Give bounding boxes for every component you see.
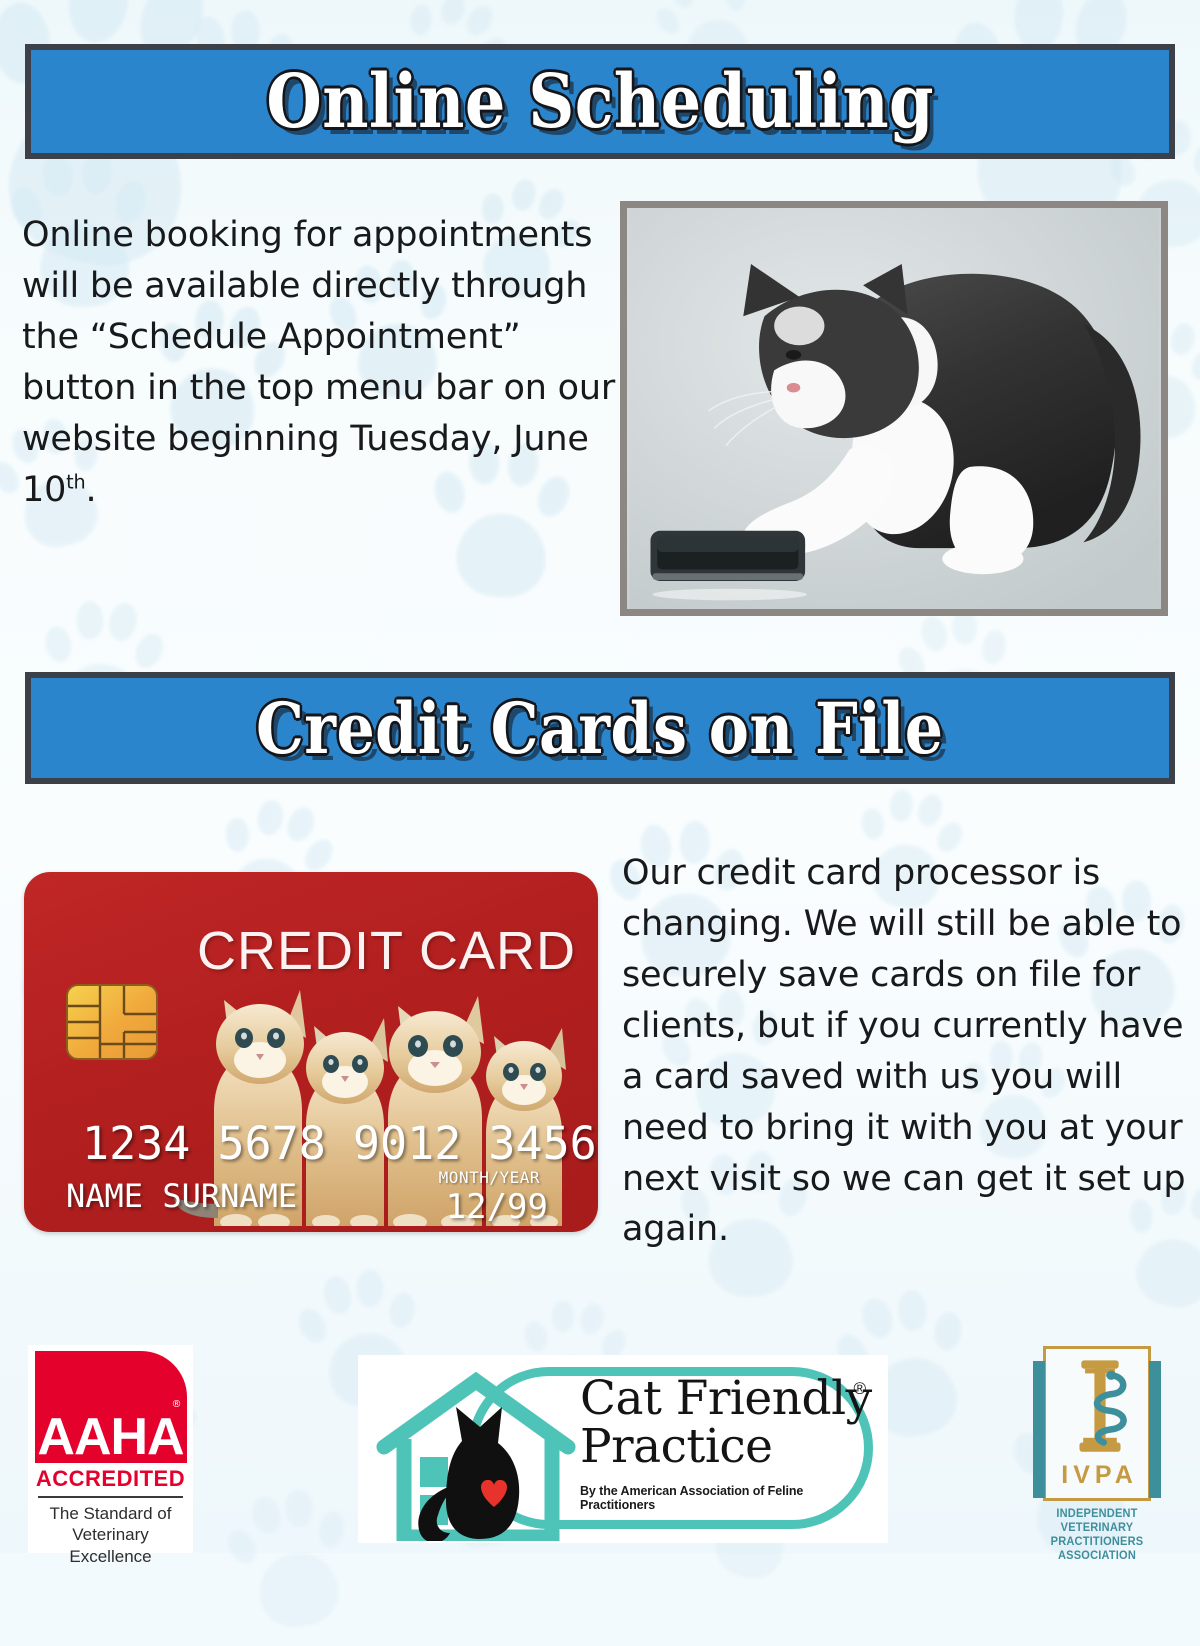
accreditation-logos-footer: AAHA ® ACCREDITED The Standard of Veteri… <box>0 1340 1200 1553</box>
ivpa-acronym: IVPA <box>1046 1461 1148 1490</box>
online-scheduling-text-main: Online booking for appointments will be … <box>22 215 615 510</box>
aaha-accredited-logo: AAHA ® ACCREDITED The Standard of Veteri… <box>28 1345 193 1553</box>
cfp-subtitle: By the American Association of Feline Pr… <box>580 1484 880 1512</box>
kitten-credit-card-image: CREDIT CARD <box>24 872 598 1232</box>
section-banner-online-scheduling: Online Scheduling <box>25 44 1175 159</box>
online-scheduling-body-text: Online booking for appointments will be … <box>22 210 617 516</box>
cfp-line-2: Practice <box>580 1425 880 1468</box>
ivpa-caption: INDEPENDENT VETERINARY PRACTITIONERS ASS… <box>1022 1507 1172 1563</box>
cat-illustration <box>627 208 1161 609</box>
cat-friendly-practice-logo: Cat Friendly Practice By the American As… <box>358 1355 888 1543</box>
credit-card-expiry-value: 12/99 <box>446 1187 548 1227</box>
aaha-tagline-line1: The Standard of <box>34 1503 187 1524</box>
smartphone <box>651 531 806 581</box>
credit-card-holder-name: NAME SURNAME <box>66 1177 297 1215</box>
section-banner-credit-cards: Credit Cards on File <box>25 672 1175 784</box>
ivpa-caption-line2: PRACTITIONERS ASSOCIATION <box>1022 1535 1172 1563</box>
registered-trademark-icon: ® <box>853 1379 866 1399</box>
emv-chip-icon <box>66 984 158 1060</box>
ivpa-logo: IVPA INDEPENDENT VETERINARY PRACTITIONER… <box>1019 1346 1175 1551</box>
aaha-wordmark: AAHA <box>35 1407 187 1463</box>
banner-title-online-scheduling: Online Scheduling <box>266 59 934 145</box>
credit-cards-body-text: Our credit card processor is changing. W… <box>622 848 1187 1255</box>
house-with-cat-icon <box>376 1369 576 1541</box>
aaha-tagline: The Standard of Veterinary Excellence <box>34 1503 187 1567</box>
ordinal-suffix: th <box>66 470 85 493</box>
aaha-status-line: ACCREDITED <box>34 1466 187 1492</box>
registered-trademark-icon: ® <box>172 1399 182 1410</box>
divider <box>38 1496 183 1498</box>
rod-of-asclepius-icon <box>1046 1351 1154 1463</box>
credit-card-number: 1234 5678 9012 3456 <box>82 1117 597 1170</box>
cfp-line-1: Cat Friendly <box>580 1377 880 1420</box>
ivpa-frame: IVPA <box>1043 1346 1151 1501</box>
ivpa-caption-line1: INDEPENDENT VETERINARY <box>1022 1507 1172 1535</box>
aaha-tagline-line2: Veterinary Excellence <box>34 1524 187 1567</box>
cat-touching-smartphone-photo <box>620 201 1168 616</box>
online-scheduling-text-end: . <box>86 470 97 510</box>
aaha-red-mark: AAHA ® <box>35 1351 187 1463</box>
credit-card-expiry-label: MONTH/YEAR <box>439 1168 540 1187</box>
banner-title-credit-cards: Credit Cards on File <box>256 687 944 770</box>
cfp-wordmark: Cat Friendly Practice By the American As… <box>580 1377 880 1512</box>
